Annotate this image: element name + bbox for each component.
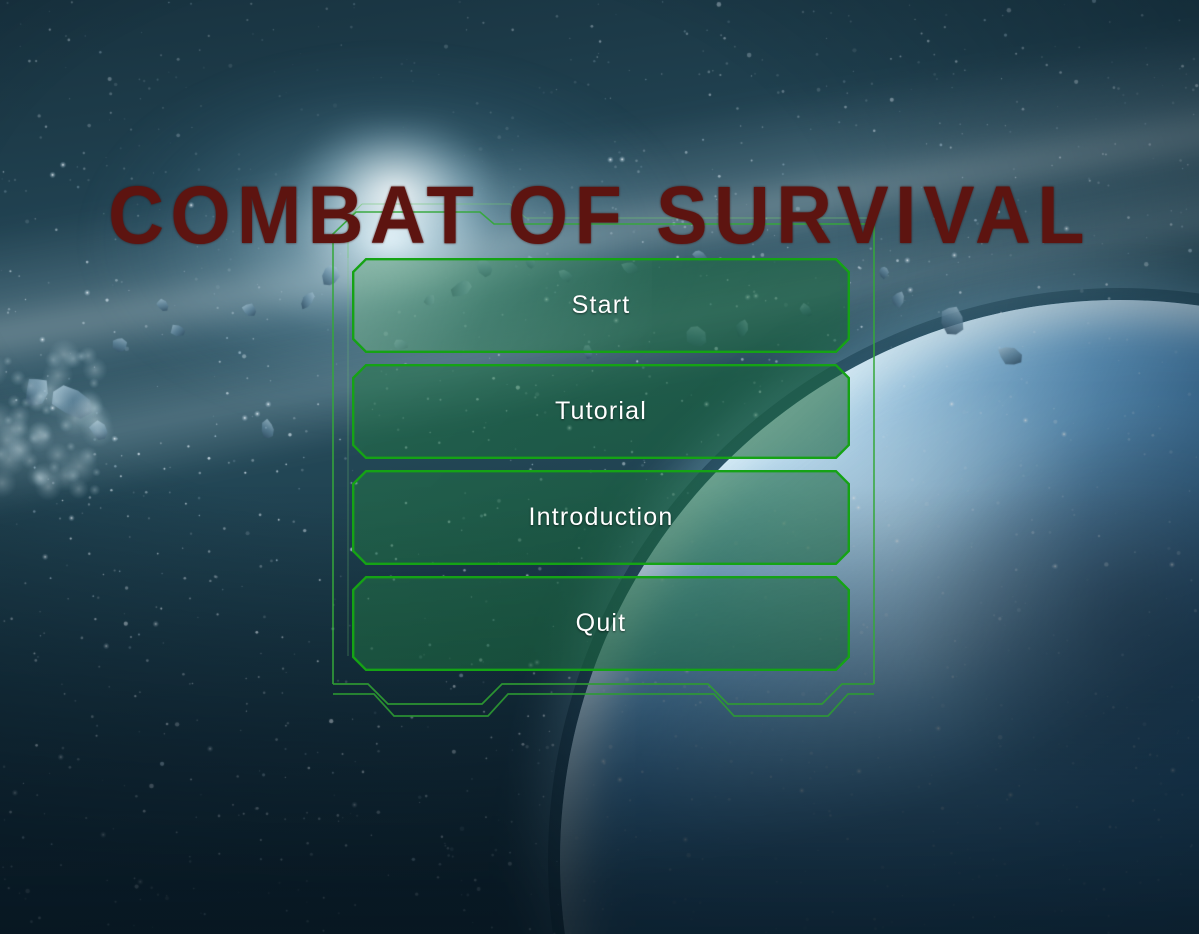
menu-button-label: Start	[352, 258, 850, 353]
menu-button-label: Quit	[352, 576, 850, 671]
menu-button-label: Introduction	[352, 470, 850, 565]
main-menu-button-stack: Start Tutorial Introduction	[352, 258, 850, 671]
menu-button-introduction[interactable]: Introduction	[352, 470, 850, 565]
game-title: COMBAT OF SURVIVAL	[0, 169, 1199, 262]
menu-button-tutorial[interactable]: Tutorial	[352, 364, 850, 459]
menu-button-start[interactable]: Start	[352, 258, 850, 353]
menu-button-quit[interactable]: Quit	[352, 576, 850, 671]
game-main-menu-screen: Start Tutorial Introduction	[0, 0, 1199, 934]
menu-button-label: Tutorial	[352, 364, 850, 459]
